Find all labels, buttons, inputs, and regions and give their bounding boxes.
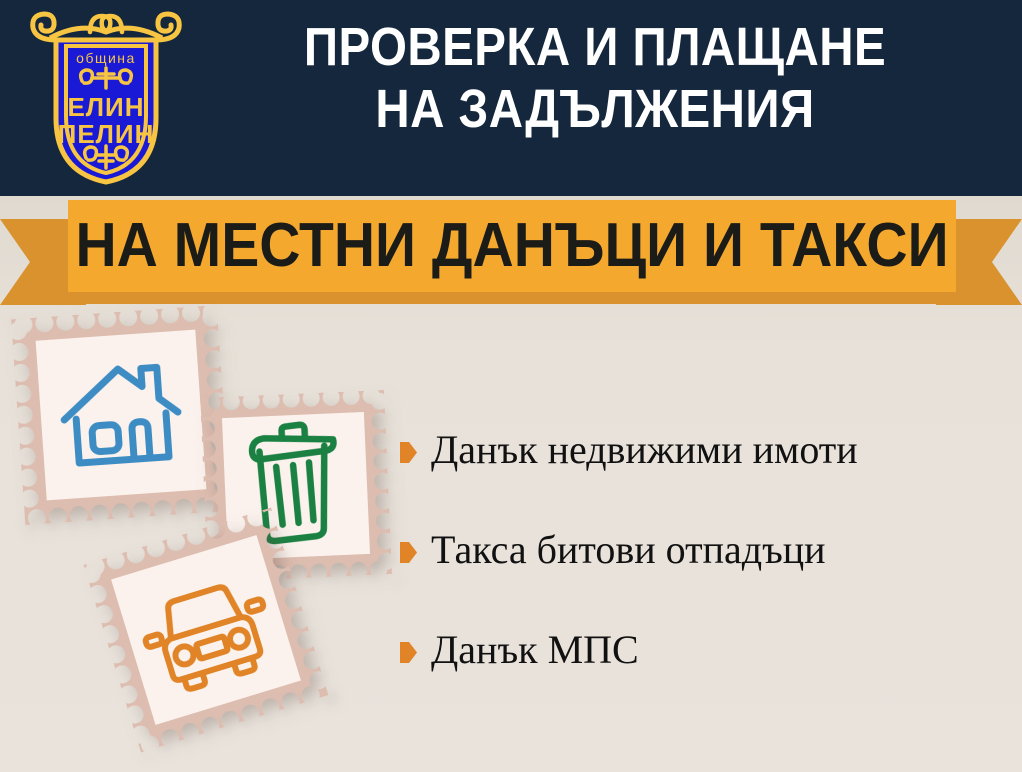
list-item[interactable]: Данък МПС: [400, 628, 1010, 672]
bullet-arrow-icon: [400, 642, 417, 663]
poster-canvas: община ЕЛИН ПЕЛИН: [0, 0, 1022, 772]
list-item[interactable]: Данък недвижими имоти: [400, 428, 1010, 472]
header-bar: община ЕЛИН ПЕЛИН: [0, 0, 1022, 196]
list-item-label: Такса битови отпадъци: [431, 528, 826, 572]
stamp-card-property-tax: [11, 305, 231, 525]
coat-of-arms-elin-pelin: община ЕЛИН ПЕЛИН: [20, 6, 192, 188]
ribbon-label: НА МЕСТНИ ДАНЪЦИ И ТАКСИ: [104, 200, 921, 292]
list-item[interactable]: Такса битови отпадъци: [400, 528, 1010, 572]
ribbon-banner: НА МЕСТНИ ДАНЪЦИ И ТАКСИ: [68, 200, 956, 292]
list-item-label: Данък недвижими имоти: [431, 428, 858, 472]
page-title: ПРОВЕРКА И ПЛАЩАНЕ НА ЗАДЪЛЖЕНИЯ: [230, 16, 960, 140]
tax-type-list: Данък недвижими имоти Такса битови отпад…: [400, 428, 1010, 728]
svg-text:ЕЛИН: ЕЛИН: [67, 92, 144, 122]
list-item-label: Данък МПС: [431, 628, 639, 672]
bullet-arrow-icon: [400, 442, 417, 463]
svg-text:община: община: [76, 50, 136, 66]
bullet-arrow-icon: [400, 542, 417, 563]
